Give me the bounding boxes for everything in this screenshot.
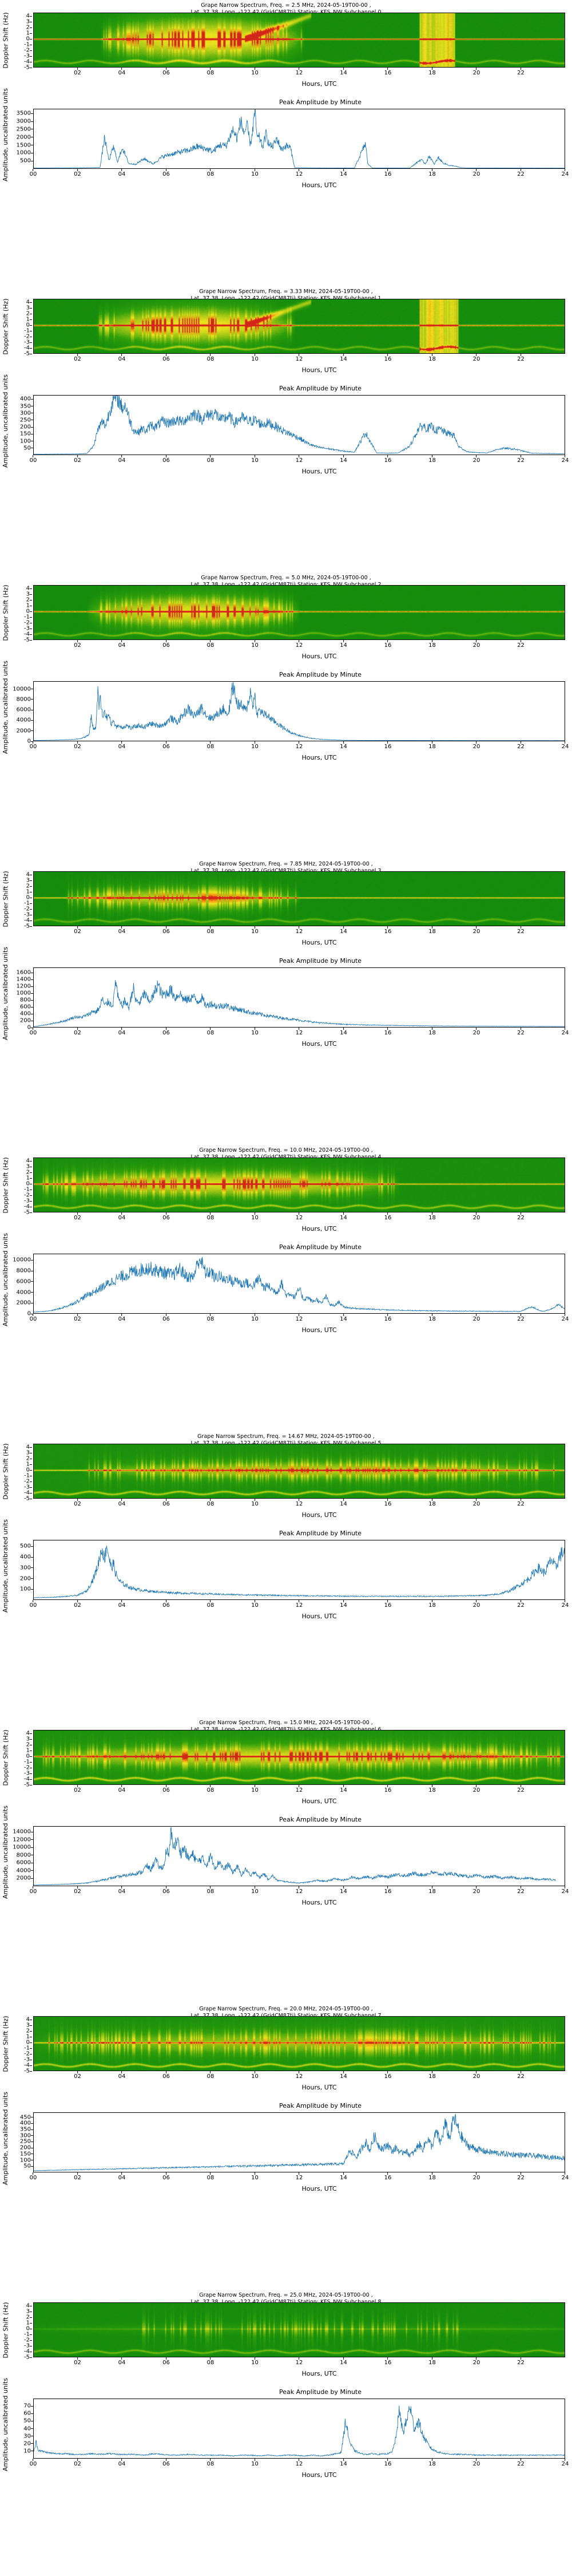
tick-mark: [30, 1779, 32, 1780]
tick-mark: [30, 2312, 32, 2312]
tick-mark: [30, 331, 32, 331]
amplitude-plot-0[interactable]: [33, 109, 565, 169]
spectrogram-xlabel: Hours, UTC: [0, 80, 572, 88]
tick-mark: [77, 1886, 78, 1888]
spectrogram-xtick: 16: [384, 1215, 392, 1221]
spectrogram-xtick: 16: [384, 1787, 392, 1793]
tick-mark: [121, 2459, 122, 2461]
tick-mark: [121, 2071, 122, 2073]
amplitude-ytick: 8000: [17, 1852, 31, 1858]
tick-mark: [432, 1028, 432, 1030]
spectrogram-xtick: 16: [384, 1501, 392, 1507]
amplitude-ytick: 300: [20, 1564, 31, 1571]
tick-mark: [255, 2357, 255, 2360]
amplitude-xtick: 24: [562, 1888, 569, 1895]
amplitude-plot-1[interactable]: [33, 395, 565, 455]
tick-mark: [30, 617, 32, 618]
spectrogram-yticks: 43210-1-2-3-4-5: [8, 871, 32, 926]
tick-mark: [210, 455, 210, 457]
amplitude-xtick: 04: [118, 457, 126, 464]
tick-mark: [166, 1028, 166, 1030]
spectrogram-xtick: 06: [162, 2360, 170, 2366]
tick-mark: [77, 1499, 78, 1501]
tick-mark: [343, 354, 344, 356]
spectrogram-xtick: 20: [473, 1215, 480, 1221]
spectrogram-xticks: 0204060810121416182022: [33, 2071, 565, 2080]
amplitude-xticks: 00020406081012141618202224: [33, 2459, 565, 2468]
tick-mark: [565, 1028, 565, 1030]
amplitude-plot-7[interactable]: [33, 2112, 565, 2172]
tick-mark: [565, 741, 565, 744]
tick-mark: [30, 2031, 32, 2032]
amplitude-ytick: 30: [23, 2433, 31, 2439]
spectrogram-plot-1[interactable]: [33, 299, 565, 354]
spectrogram-plot-0[interactable]: [33, 13, 565, 68]
tick-mark: [255, 1212, 255, 1215]
amplitude-xtick: 04: [118, 171, 126, 177]
spectrogram-xtick: 02: [74, 1501, 81, 1507]
amplitude-xticks: 00020406081012141618202224: [33, 1600, 565, 1609]
tick-mark: [343, 68, 344, 70]
spectrogram-xtick: 12: [296, 642, 303, 649]
amplitude-plot-2[interactable]: [33, 681, 565, 741]
amplitude-line-svg: [34, 109, 565, 168]
amplitude-plot-3[interactable]: [33, 967, 565, 1028]
spectrogram-xtick: 14: [340, 2073, 347, 2080]
subchannel-panel-6: Grape Narrow Spectrum, Freq. = 15.0 MHz,…: [0, 1717, 572, 2004]
amplitude-xtick: 12: [296, 1316, 303, 1322]
tick-mark: [432, 2357, 432, 2360]
tick-mark: [121, 354, 122, 356]
grape-spectrum-figure: Grape Narrow Spectrum, Freq. = 2.5 MHz, …: [0, 0, 572, 2576]
amplitude-xtick: 16: [384, 1888, 392, 1895]
spectrogram-xtick: 10: [251, 70, 259, 76]
amplitude-plot-8[interactable]: [33, 2399, 565, 2459]
amplitude-xtick: 06: [162, 1316, 170, 1322]
tick-mark: [30, 1762, 32, 1763]
spectrogram-xtick: 20: [473, 2360, 480, 2366]
tick-mark: [30, 2048, 32, 2049]
amplitude-xtick: 00: [30, 2461, 37, 2467]
tick-mark: [432, 1314, 432, 1316]
tick-mark: [476, 455, 476, 457]
tick-mark: [30, 2065, 32, 2066]
amplitude-series-line: [34, 109, 565, 168]
amplitude-xtick: 02: [74, 1030, 81, 1036]
amplitude-xtick: 02: [74, 744, 81, 750]
amplitude-title-6: Peak Amplitude by Minute: [0, 1815, 572, 1823]
tick-mark: [30, 314, 32, 314]
tick-mark: [432, 68, 432, 70]
amplitude-ytick: 6000: [17, 1860, 31, 1866]
tick-mark: [30, 1453, 32, 1453]
amplitude-series-line: [34, 1546, 565, 1598]
amplitude-plot-6[interactable]: [33, 1826, 565, 1886]
amplitude-xtick: 02: [74, 1316, 81, 1322]
amplitude-ytick: 1500: [17, 142, 31, 148]
amplitude-xtick: 06: [162, 744, 170, 750]
spectrogram-xlabel: Hours, UTC: [0, 1511, 572, 1519]
amplitude-plot-4[interactable]: [33, 1254, 565, 1314]
tick-mark: [30, 2306, 32, 2306]
amplitude-series-line: [34, 2114, 565, 2171]
spectrogram-xtick: 20: [473, 1501, 480, 1507]
amplitude-ytick: 800: [20, 997, 31, 1003]
tick-mark: [476, 2071, 476, 2073]
spectrogram-xtick: 20: [473, 642, 480, 649]
tick-mark: [476, 2459, 476, 2461]
spectrogram-xtick: 08: [207, 2073, 214, 2080]
amplitude-ytick: 400: [20, 1554, 31, 1560]
tick-mark: [387, 2459, 388, 2461]
amplitude-xtick: 20: [473, 457, 480, 464]
tick-mark: [432, 741, 432, 744]
tick-mark: [299, 741, 299, 744]
tick-mark: [343, 455, 344, 457]
amplitude-series-line: [34, 1257, 565, 1313]
spectrogram-xticks: 0204060810121416182022: [33, 1212, 565, 1222]
spectrogram-canvas: [34, 13, 565, 67]
spectrogram-plot-8[interactable]: [33, 2302, 565, 2357]
amplitude-xticks: 00020406081012141618202224: [33, 2172, 565, 2182]
spectrogram-xtick: 12: [296, 2073, 303, 2080]
tick-mark: [476, 741, 476, 744]
tick-mark: [30, 1751, 32, 1751]
tick-mark: [476, 640, 476, 642]
tick-mark: [77, 640, 78, 642]
spectrogram-plot-6[interactable]: [33, 1730, 565, 1785]
tick-mark: [387, 68, 388, 70]
spectrogram-xtick: 22: [517, 356, 525, 362]
amplitude-xtick: 02: [74, 171, 81, 177]
tick-mark: [30, 1739, 32, 1740]
amplitude-xlabel: Hours, UTC: [0, 1613, 572, 1620]
tick-mark: [30, 875, 32, 875]
spectrogram-plot-3[interactable]: [33, 871, 565, 926]
tick-mark: [30, 1178, 32, 1179]
amplitude-yticks: 50100150200250300350400: [6, 395, 33, 455]
amplitude-xtick: 04: [118, 1888, 126, 1895]
tick-mark: [166, 1499, 166, 1501]
tick-mark: [33, 741, 33, 744]
amplitude-xtick: 12: [296, 1030, 303, 1036]
spectrogram-yticks: 43210-1-2-3-4-5: [8, 2302, 32, 2357]
tick-mark: [299, 354, 299, 356]
tick-mark: [387, 640, 388, 642]
spectrogram-xtick: 02: [74, 1787, 81, 1793]
amplitude-xtick: 04: [118, 2461, 126, 2467]
tick-mark: [521, 1886, 521, 1888]
tick-mark: [387, 2071, 388, 2073]
amplitude-xtick: 22: [517, 744, 525, 750]
tick-mark: [33, 2459, 33, 2461]
amplitude-xtick: 12: [296, 2175, 303, 2181]
amplitude-xtick: 00: [30, 1602, 37, 1609]
amplitude-xtick: 14: [340, 1602, 347, 1609]
tick-mark: [30, 1756, 32, 1757]
tick-mark: [30, 56, 32, 57]
tick-mark: [343, 2071, 344, 2073]
tick-mark: [343, 1028, 344, 1030]
spectrogram-plot-4[interactable]: [33, 1157, 565, 1212]
tick-mark: [33, 2172, 33, 2175]
tick-mark: [299, 2459, 299, 2461]
tick-mark: [121, 169, 122, 171]
tick-mark: [255, 1499, 255, 1501]
spectrogram-ytick: -5: [24, 923, 30, 930]
tick-mark: [30, 50, 32, 51]
tick-mark: [77, 1785, 78, 1787]
spectrogram-xtick: 14: [340, 1787, 347, 1793]
amplitude-xtick: 08: [207, 1030, 214, 1036]
amplitude-xtick: 08: [207, 1602, 214, 1609]
tick-mark: [432, 2459, 432, 2461]
amplitude-line-svg: [34, 682, 565, 741]
amplitude-ytick: 2000: [17, 1300, 31, 1306]
tick-mark: [521, 926, 521, 929]
tick-mark: [387, 2357, 388, 2360]
amplitude-xlabel: Hours, UTC: [0, 181, 572, 189]
spectrogram-ytick: -5: [24, 1210, 30, 1216]
tick-mark: [521, 1212, 521, 1215]
amplitude-xtick: 24: [562, 2461, 569, 2467]
amplitude-xtick: 18: [428, 1030, 436, 1036]
spectrogram-ytick: -5: [24, 351, 30, 357]
amplitude-xtick: 18: [428, 1602, 436, 1609]
tick-mark: [343, 926, 344, 929]
amplitude-title-8: Peak Amplitude by Minute: [0, 2387, 572, 2396]
spectrogram-xticks: 0204060810121416182022: [33, 1499, 565, 1508]
spectrogram-ytick: -5: [24, 1496, 30, 1502]
amplitude-xtick: 02: [74, 2461, 81, 2467]
amplitude-xtick: 24: [562, 171, 569, 177]
amplitude-title-1: Peak Amplitude by Minute: [0, 384, 572, 392]
tick-mark: [166, 2071, 166, 2073]
tick-mark: [30, 629, 32, 629]
tick-mark: [166, 68, 166, 70]
amplitude-xtick: 16: [384, 2175, 392, 2181]
tick-mark: [30, 1785, 32, 1785]
tick-mark: [299, 455, 299, 457]
spectrogram-xtick: 20: [473, 70, 480, 76]
tick-mark: [387, 1212, 388, 1215]
amplitude-xtick: 00: [30, 1316, 37, 1322]
tick-mark: [121, 1212, 122, 1215]
tick-mark: [30, 325, 32, 326]
tick-mark: [476, 1212, 476, 1215]
spectrogram-xtick: 04: [118, 2360, 126, 2366]
tick-mark: [30, 1195, 32, 1196]
amplitude-title-4: Peak Amplitude by Minute: [0, 1242, 572, 1251]
tick-mark: [210, 741, 210, 744]
spectrogram-yticks: 43210-1-2-3-4-5: [8, 1157, 32, 1212]
tick-mark: [210, 1785, 210, 1787]
amplitude-ytick: 60: [23, 2411, 31, 2417]
amplitude-xtick: 02: [74, 1888, 81, 1895]
amplitude-yticks: 0200040006000800010000: [6, 1254, 33, 1314]
spectrogram-xtick: 10: [251, 1501, 259, 1507]
amplitude-xtick: 24: [562, 1316, 569, 1322]
tick-mark: [210, 1600, 210, 1602]
amplitude-ytick: 1200: [17, 983, 31, 990]
amplitude-xtick: 18: [428, 171, 436, 177]
tick-mark: [476, 1314, 476, 1316]
amplitude-ytick: 12000: [13, 1836, 31, 1843]
spectrogram-xtick: 08: [207, 70, 214, 76]
amplitude-xtick: 12: [296, 171, 303, 177]
amplitude-xtick: 18: [428, 744, 436, 750]
tick-mark: [166, 169, 166, 171]
amplitude-ytick: 400: [20, 396, 31, 402]
amplitude-xtick: 18: [428, 1888, 436, 1895]
tick-mark: [77, 1212, 78, 1215]
spectrogram-xtick: 08: [207, 642, 214, 649]
amplitude-yticks: 02004006008001000120014001600: [6, 967, 33, 1028]
amplitude-yticks: 50100150200250300350400450: [6, 2112, 33, 2172]
amplitude-ytick: 40: [23, 2425, 31, 2432]
amplitude-xtick: 06: [162, 1030, 170, 1036]
spectrogram-xlabel: Hours, UTC: [0, 1225, 572, 1232]
tick-mark: [33, 1886, 33, 1888]
tick-mark: [255, 1028, 255, 1030]
tick-mark: [476, 2357, 476, 2360]
amplitude-xtick: 16: [384, 2461, 392, 2467]
amplitude-ytick: 3000: [17, 118, 31, 125]
tick-mark: [166, 354, 166, 356]
tick-mark: [476, 1028, 476, 1030]
tick-mark: [299, 1499, 299, 1501]
amplitude-ytick: 500: [20, 158, 31, 164]
spectrogram-xtick: 20: [473, 356, 480, 362]
spectrogram-xtick: 10: [251, 929, 259, 935]
amplitude-ytick: 8000: [17, 696, 31, 702]
tick-mark: [476, 1785, 476, 1787]
spectrogram-xtick: 16: [384, 2360, 392, 2366]
spectrogram-xtick: 14: [340, 70, 347, 76]
tick-mark: [476, 926, 476, 929]
tick-mark: [30, 1207, 32, 1207]
tick-mark: [121, 1886, 122, 1888]
tick-mark: [521, 2172, 521, 2175]
amplitude-xtick: 24: [562, 2175, 569, 2181]
amplitude-line-svg: [34, 1254, 565, 1313]
amplitude-ytick: 300: [20, 2132, 31, 2139]
spectrogram-title-line1: Grape Narrow Spectrum, Freq. = 15.0 MHz,…: [199, 1720, 373, 1726]
tick-mark: [77, 2459, 78, 2461]
tick-mark: [521, 741, 521, 744]
tick-mark: [432, 1600, 432, 1602]
tick-mark: [521, 455, 521, 457]
spectrogram-plot-5[interactable]: [33, 1444, 565, 1499]
spectrogram-xtick: 22: [517, 2360, 525, 2366]
tick-mark: [121, 1499, 122, 1501]
tick-mark: [521, 2071, 521, 2073]
spectrogram-xtick: 18: [428, 2360, 436, 2366]
amplitude-ytick: 350: [20, 403, 31, 409]
tick-mark: [387, 1499, 388, 1501]
spectrogram-xtick: 16: [384, 2073, 392, 2080]
spectrogram-xtick: 12: [296, 1215, 303, 1221]
tick-mark: [30, 16, 32, 17]
tick-mark: [30, 2071, 32, 2072]
tick-mark: [30, 915, 32, 915]
amplitude-xtick: 24: [562, 744, 569, 750]
amplitude-plot-5[interactable]: [33, 1540, 565, 1600]
tick-mark: [255, 2459, 255, 2461]
amplitude-ytick: 150: [20, 431, 31, 437]
amplitude-yticks: 500100015002000250030003500: [6, 109, 33, 169]
spectrogram-xlabel: Hours, UTC: [0, 1797, 572, 1805]
amplitude-ytick: 4000: [17, 1289, 31, 1295]
spectrogram-xtick: 18: [428, 1215, 436, 1221]
spectrogram-plot-2[interactable]: [33, 585, 565, 640]
tick-mark: [30, 1172, 32, 1173]
tick-mark: [166, 640, 166, 642]
spectrogram-xticks: 0204060810121416182022: [33, 926, 565, 935]
amplitude-xtick: 04: [118, 1316, 126, 1322]
tick-mark: [432, 1785, 432, 1787]
spectrogram-plot-7[interactable]: [33, 2016, 565, 2071]
tick-mark: [30, 1476, 32, 1476]
amplitude-series-line: [34, 980, 565, 1026]
amplitude-xtick: 06: [162, 1888, 170, 1895]
tick-mark: [521, 354, 521, 356]
tick-mark: [521, 1028, 521, 1030]
spectrogram-yticks: 43210-1-2-3-4-5: [8, 585, 32, 640]
amplitude-xtick: 04: [118, 744, 126, 750]
amplitude-title-7: Peak Amplitude by Minute: [0, 2101, 572, 2109]
amplitude-xtick: 18: [428, 2175, 436, 2181]
tick-mark: [387, 1314, 388, 1316]
spectrogram-xtick: 16: [384, 642, 392, 649]
tick-mark: [30, 342, 32, 343]
spectrogram-xtick: 04: [118, 70, 126, 76]
amplitude-xtick: 22: [517, 457, 525, 464]
spectrogram-title-line1: Grape Narrow Spectrum, Freq. = 25.0 MHz,…: [199, 2292, 373, 2298]
spectrogram-xticks: 0204060810121416182022: [33, 640, 565, 649]
amplitude-ytick: 4000: [17, 1867, 31, 1874]
tick-mark: [210, 2071, 210, 2073]
spectrogram-xtick: 18: [428, 1787, 436, 1793]
tick-mark: [33, 1314, 33, 1316]
amplitude-ytick: 1600: [17, 970, 31, 976]
tick-mark: [33, 455, 33, 457]
amplitude-xtick: 06: [162, 1602, 170, 1609]
tick-mark: [210, 169, 210, 171]
tick-mark: [565, 1314, 565, 1316]
tick-mark: [432, 169, 432, 171]
tick-mark: [30, 2020, 32, 2020]
spectrogram-xtick: 18: [428, 929, 436, 935]
amplitude-ytick: 250: [20, 417, 31, 423]
spectrogram-canvas: [34, 2303, 565, 2357]
tick-mark: [30, 1733, 32, 1734]
amplitude-ytick: 50: [23, 445, 31, 451]
amplitude-xtick: 08: [207, 171, 214, 177]
amplitude-xtick: 08: [207, 1888, 214, 1895]
tick-mark: [30, 2025, 32, 2026]
spectrogram-xtick: 14: [340, 2360, 347, 2366]
tick-mark: [30, 2346, 32, 2346]
spectrogram-xtick: 08: [207, 1501, 214, 1507]
amplitude-xtick: 24: [562, 1030, 569, 1036]
tick-mark: [121, 1785, 122, 1787]
amplitude-xtick: 10: [251, 1602, 259, 1609]
tick-mark: [77, 1028, 78, 1030]
amplitude-xtick: 00: [30, 1030, 37, 1036]
amplitude-line-svg: [34, 2399, 565, 2458]
tick-mark: [299, 2357, 299, 2360]
